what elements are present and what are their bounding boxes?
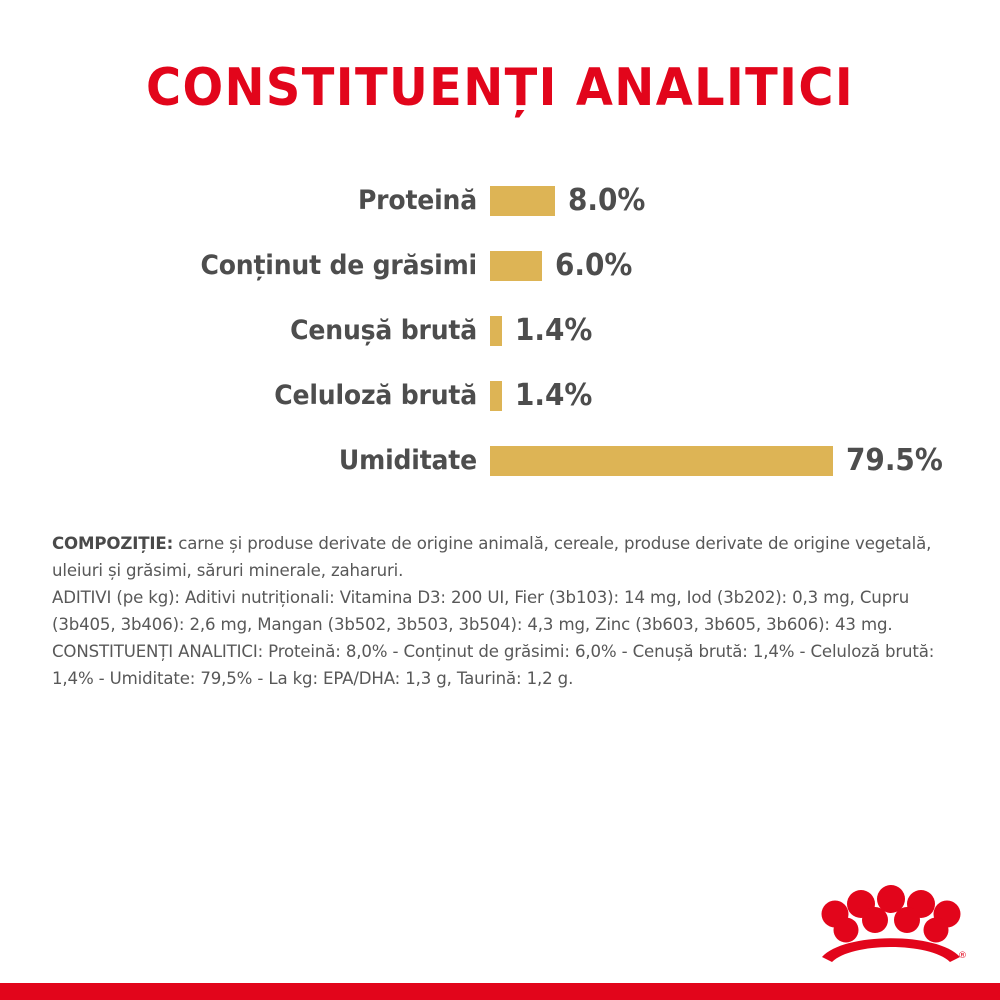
composition-body: carne și produse derivate de origine ani… — [52, 534, 931, 580]
chart-bar-group: 8.0% — [490, 186, 1000, 216]
chart-bar-group: 1.4% — [490, 381, 1000, 411]
chart-row: Proteină 8.0% — [0, 168, 1000, 233]
chart-bar — [490, 381, 502, 411]
chart-row: Umiditate 79.5% — [0, 428, 1000, 493]
chart-value-label: 79.5% — [846, 446, 943, 476]
chart-bar-group: 79.5% — [490, 446, 1000, 476]
chart-row: Cenușă brută 1.4% — [0, 298, 1000, 363]
analytical-constituents-chart: Proteină 8.0% Conținut de grăsimi 6.0% C… — [0, 168, 1000, 493]
analytical-constituents-page: CONSTITUENȚI ANALITICI Proteină 8.0% Con… — [0, 0, 1000, 1000]
royal-canin-crown-logo: ® — [816, 884, 966, 964]
chart-bar — [490, 316, 502, 346]
chart-bar — [490, 251, 542, 281]
chart-value-label: 6.0% — [555, 251, 632, 281]
chart-value-label: 1.4% — [515, 316, 592, 346]
page-title: CONSTITUENȚI ANALITICI — [40, 62, 960, 114]
chart-row-label: Proteină — [34, 187, 490, 214]
chart-value-label: 8.0% — [568, 186, 645, 216]
chart-row-label: Conținut de grăsimi — [34, 252, 490, 279]
chart-row: Conținut de grăsimi 6.0% — [0, 233, 1000, 298]
chart-bar-group: 1.4% — [490, 316, 1000, 346]
composition-label: COMPOZIȚIE: — [52, 534, 173, 553]
chart-row-label: Cenușă brută — [34, 317, 490, 344]
chart-row-label: Celuloză brută — [34, 382, 490, 409]
chart-bar — [490, 446, 833, 476]
trademark-symbol: ® — [958, 951, 966, 961]
chart-row: Celuloză brută 1.4% — [0, 363, 1000, 428]
chart-value-label: 1.4% — [515, 381, 592, 411]
bottom-accent-bar — [0, 983, 1000, 1000]
chart-row-label: Umiditate — [34, 447, 490, 474]
chart-bar-group: 6.0% — [490, 251, 1000, 281]
analytical-constituents-paragraph: CONSTITUENȚI ANALITICI: Proteină: 8,0% -… — [52, 638, 952, 692]
composition-paragraph: COMPOZIȚIE: carne și produse derivate de… — [52, 530, 952, 584]
additives-paragraph: ADITIVI (pe kg): Aditivi nutriționali: V… — [52, 584, 952, 638]
chart-bar — [490, 186, 555, 216]
composition-text-block: COMPOZIȚIE: carne și produse derivate de… — [52, 530, 952, 692]
